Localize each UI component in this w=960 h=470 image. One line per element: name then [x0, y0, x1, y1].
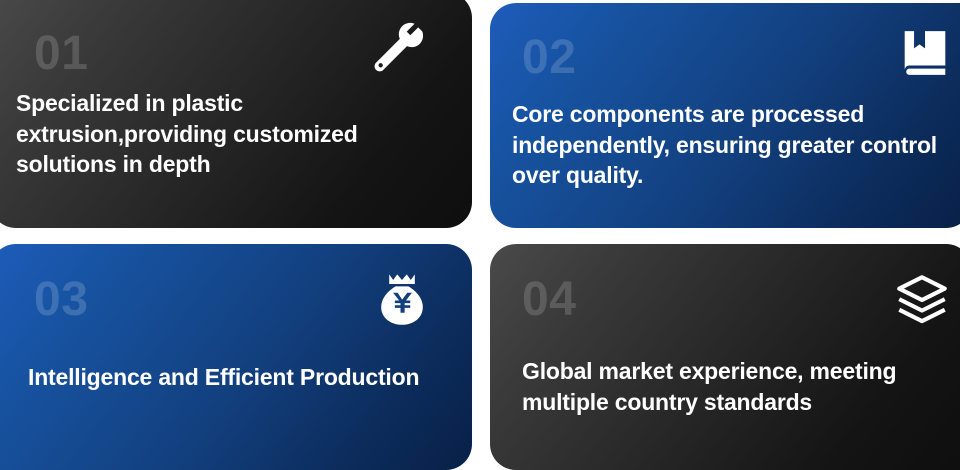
feature-card-01[interactable]: 01 Specialized in plastic extrusion,prov… — [0, 0, 472, 228]
feature-card-04[interactable]: 04 Global market experience, meeting mul… — [490, 244, 960, 470]
card-description-03: Intelligence and Efficient Production — [28, 362, 448, 393]
money-bag-yen-icon — [376, 272, 428, 328]
feature-cards-grid: 01 Specialized in plastic extrusion,prov… — [0, 0, 960, 459]
card-content-04: 04 Global market experience, meeting mul… — [490, 244, 960, 470]
feature-card-02[interactable]: 02 Core components are processed indepen… — [490, 3, 960, 228]
card-number-01: 01 — [34, 30, 88, 78]
card-content-02: 02 Core components are processed indepen… — [490, 3, 960, 228]
card-number-04: 04 — [522, 276, 576, 324]
book-bookmark-icon — [900, 28, 950, 78]
card-description-01: Specialized in plastic extrusion,providi… — [16, 88, 446, 180]
card-content-01: 01 Specialized in plastic extrusion,prov… — [0, 0, 472, 228]
card-description-04: Global market experience, meeting multip… — [522, 356, 942, 417]
layers-stack-icon — [894, 274, 950, 326]
wrench-icon — [366, 18, 424, 76]
feature-card-03[interactable]: 03 Intelligence and Efficient Production — [0, 244, 472, 470]
card-content-03: 03 Intelligence and Efficient Production — [0, 244, 472, 470]
card-number-03: 03 — [34, 276, 88, 324]
card-description-02: Core components are processed independen… — [512, 99, 960, 191]
card-number-02: 02 — [522, 34, 576, 82]
